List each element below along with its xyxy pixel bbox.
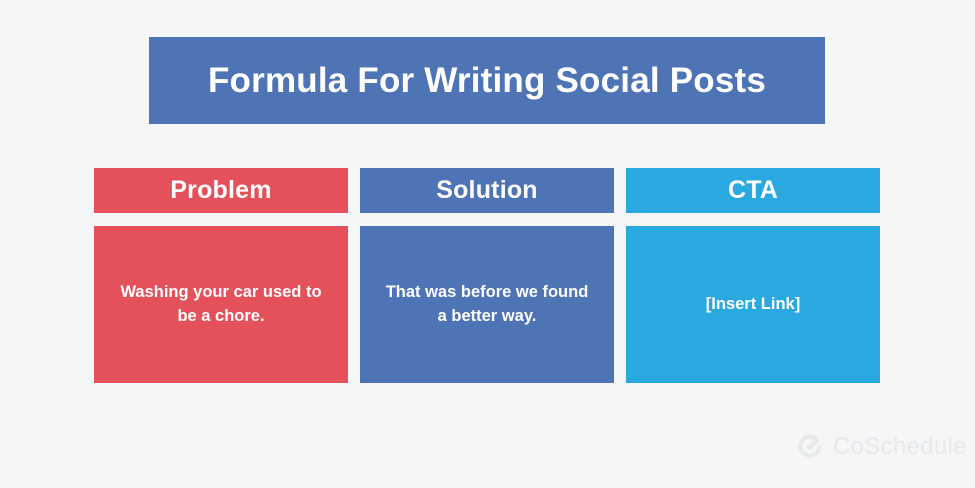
brand-name-label: CoSchedule	[833, 435, 967, 459]
page-title: Formula For Writing Social Posts	[208, 63, 766, 98]
infographic-canvas: Formula For Writing Social Posts Problem…	[0, 0, 975, 488]
coschedule-check-circle-icon	[796, 433, 824, 461]
title-banner: Formula For Writing Social Posts	[149, 37, 825, 124]
column-header-label-problem: Problem	[170, 178, 271, 203]
column-body-problem: Washing your car used to be a chore.	[94, 226, 348, 383]
column-header-label-cta: CTA	[728, 178, 778, 203]
column-body-text-solution: That was before we found a better way.	[382, 281, 592, 328]
column-body-text-cta: [Insert Link]	[706, 293, 800, 316]
column-header-solution: Solution	[360, 168, 614, 213]
column-body-solution: That was before we found a better way.	[360, 226, 614, 383]
column-header-cta: CTA	[626, 168, 880, 213]
column-body-text-problem: Washing your car used to be a chore.	[116, 281, 326, 328]
brand-watermark: CoSchedule	[796, 430, 967, 464]
formula-columns: Problem Solution CTA Washing your car us…	[94, 168, 880, 383]
column-header-label-solution: Solution	[436, 178, 538, 203]
column-header-problem: Problem	[94, 168, 348, 213]
column-body-cta: [Insert Link]	[626, 226, 880, 383]
